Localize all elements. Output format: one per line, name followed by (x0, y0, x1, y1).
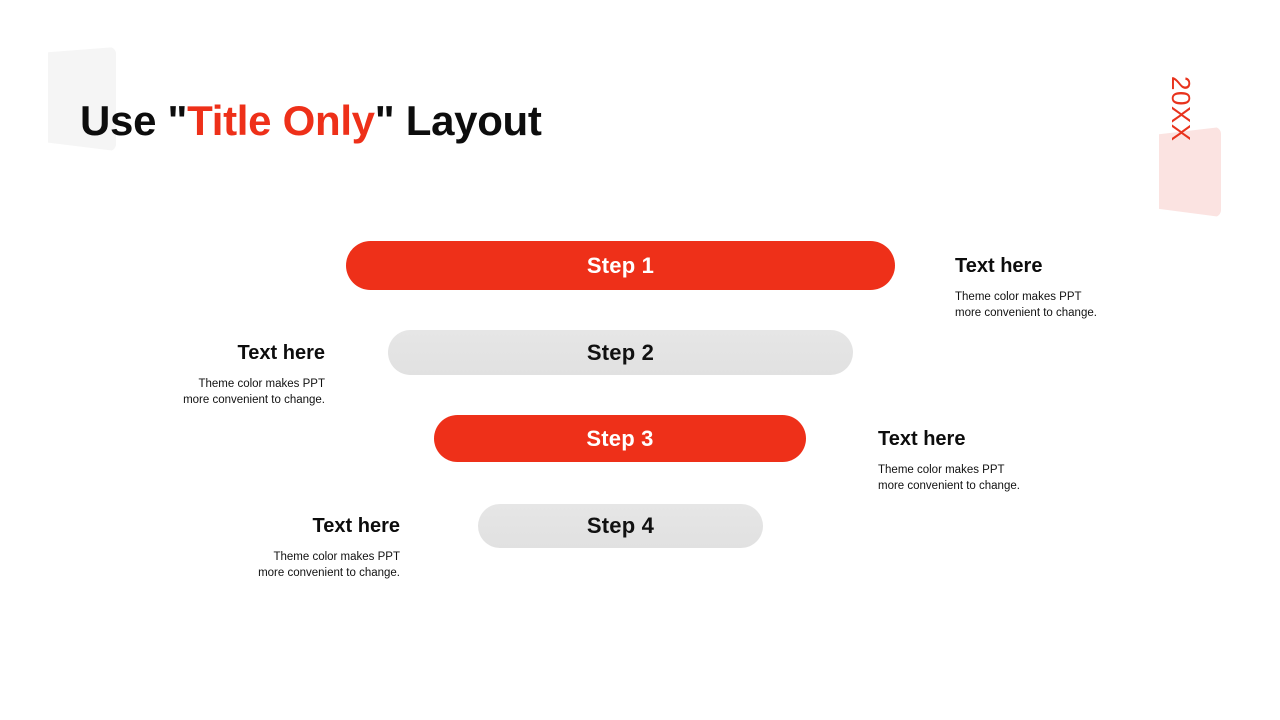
step-caption-1-line1: Theme color makes PPT (955, 289, 1175, 305)
page-title-prefix: Use " (80, 97, 187, 144)
step-bar-3[interactable]: Step 3 (434, 415, 806, 462)
slide-canvas: 20XX Use "Title Only" Layout Step 1 Step… (0, 0, 1280, 720)
step-caption-2-line2: more convenient to change. (110, 392, 325, 408)
step-bar-2-label: Step 2 (587, 340, 654, 366)
step-caption-3-line2: more convenient to change. (878, 478, 1098, 494)
step-bar-4[interactable]: Step 4 (478, 504, 763, 548)
step-caption-4-line2: more convenient to change. (185, 565, 400, 581)
step-bar-4-label: Step 4 (587, 513, 654, 539)
step-bar-2[interactable]: Step 2 (388, 330, 853, 375)
step-caption-3-body: Theme color makes PPT more convenient to… (878, 462, 1098, 495)
step-caption-4: Text here Theme color makes PPT more con… (185, 514, 400, 582)
step-caption-2: Text here Theme color makes PPT more con… (110, 341, 325, 409)
page-title: Use "Title Only" Layout (80, 97, 542, 145)
step-caption-4-body: Theme color makes PPT more convenient to… (185, 549, 400, 582)
step-caption-3-line1: Theme color makes PPT (878, 462, 1098, 478)
step-caption-3: Text here Theme color makes PPT more con… (878, 427, 1098, 495)
page-title-suffix: " Layout (375, 97, 542, 144)
year-label: 20XX (1168, 76, 1194, 142)
step-caption-1: Text here Theme color makes PPT more con… (955, 254, 1175, 322)
step-caption-2-line1: Theme color makes PPT (110, 376, 325, 392)
step-caption-1-line2: more convenient to change. (955, 305, 1175, 321)
step-caption-2-body: Theme color makes PPT more convenient to… (110, 376, 325, 409)
step-caption-1-body: Theme color makes PPT more convenient to… (955, 289, 1175, 322)
step-bar-3-label: Step 3 (586, 426, 653, 452)
step-bar-1[interactable]: Step 1 (346, 241, 895, 290)
page-title-accent: Title Only (187, 97, 375, 144)
step-bar-1-label: Step 1 (587, 253, 654, 279)
step-caption-4-line1: Theme color makes PPT (185, 549, 400, 565)
step-caption-3-title: Text here (878, 427, 1098, 451)
step-caption-1-title: Text here (955, 254, 1175, 278)
step-caption-4-title: Text here (185, 514, 400, 538)
step-caption-2-title: Text here (110, 341, 325, 365)
